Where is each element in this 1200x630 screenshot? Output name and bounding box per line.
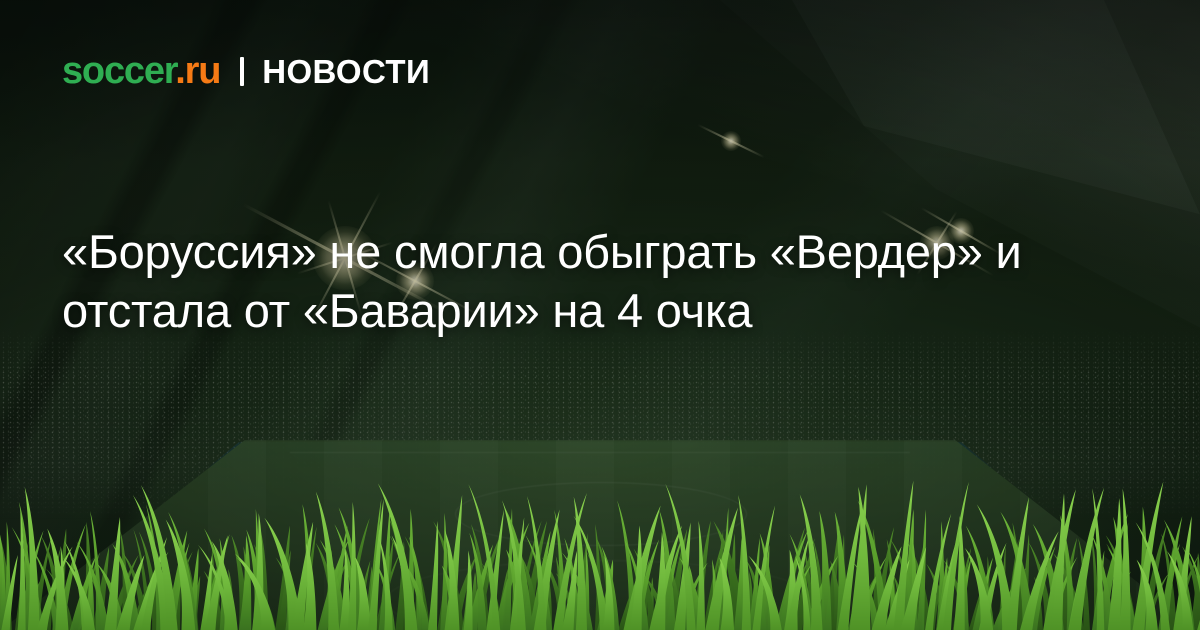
pitch-mowing-stripes	[0, 440, 1200, 630]
crowd-speckle-texture	[0, 330, 1200, 520]
site-wordmark[interactable]: soccer.ru	[62, 52, 220, 90]
wordmark-suffix: .ru	[175, 50, 220, 92]
site-logo-bar[interactable]: soccer.ru НОВОСТИ	[62, 48, 430, 94]
wordmark-primary: soccer	[62, 50, 175, 92]
football-pitch	[0, 440, 1200, 630]
foreground-grass	[0, 480, 1200, 630]
perimeter-advertising-boards	[0, 442, 1200, 468]
logo-separator-bar	[240, 57, 244, 86]
pitch-near-arc	[385, 560, 817, 630]
pitch-centre-circle	[455, 482, 747, 546]
crowd-stands	[0, 330, 1200, 520]
floodlight-flare-icon-5	[686, 96, 776, 186]
section-label: НОВОСТИ	[262, 55, 430, 88]
article-headline: «Боруссия» не смогла обыграть «Вердер» и…	[62, 222, 1152, 340]
pitch-far-touchline	[290, 452, 910, 453]
news-share-card: soccer.ru НОВОСТИ «Боруссия» не смогла о…	[0, 0, 1200, 630]
